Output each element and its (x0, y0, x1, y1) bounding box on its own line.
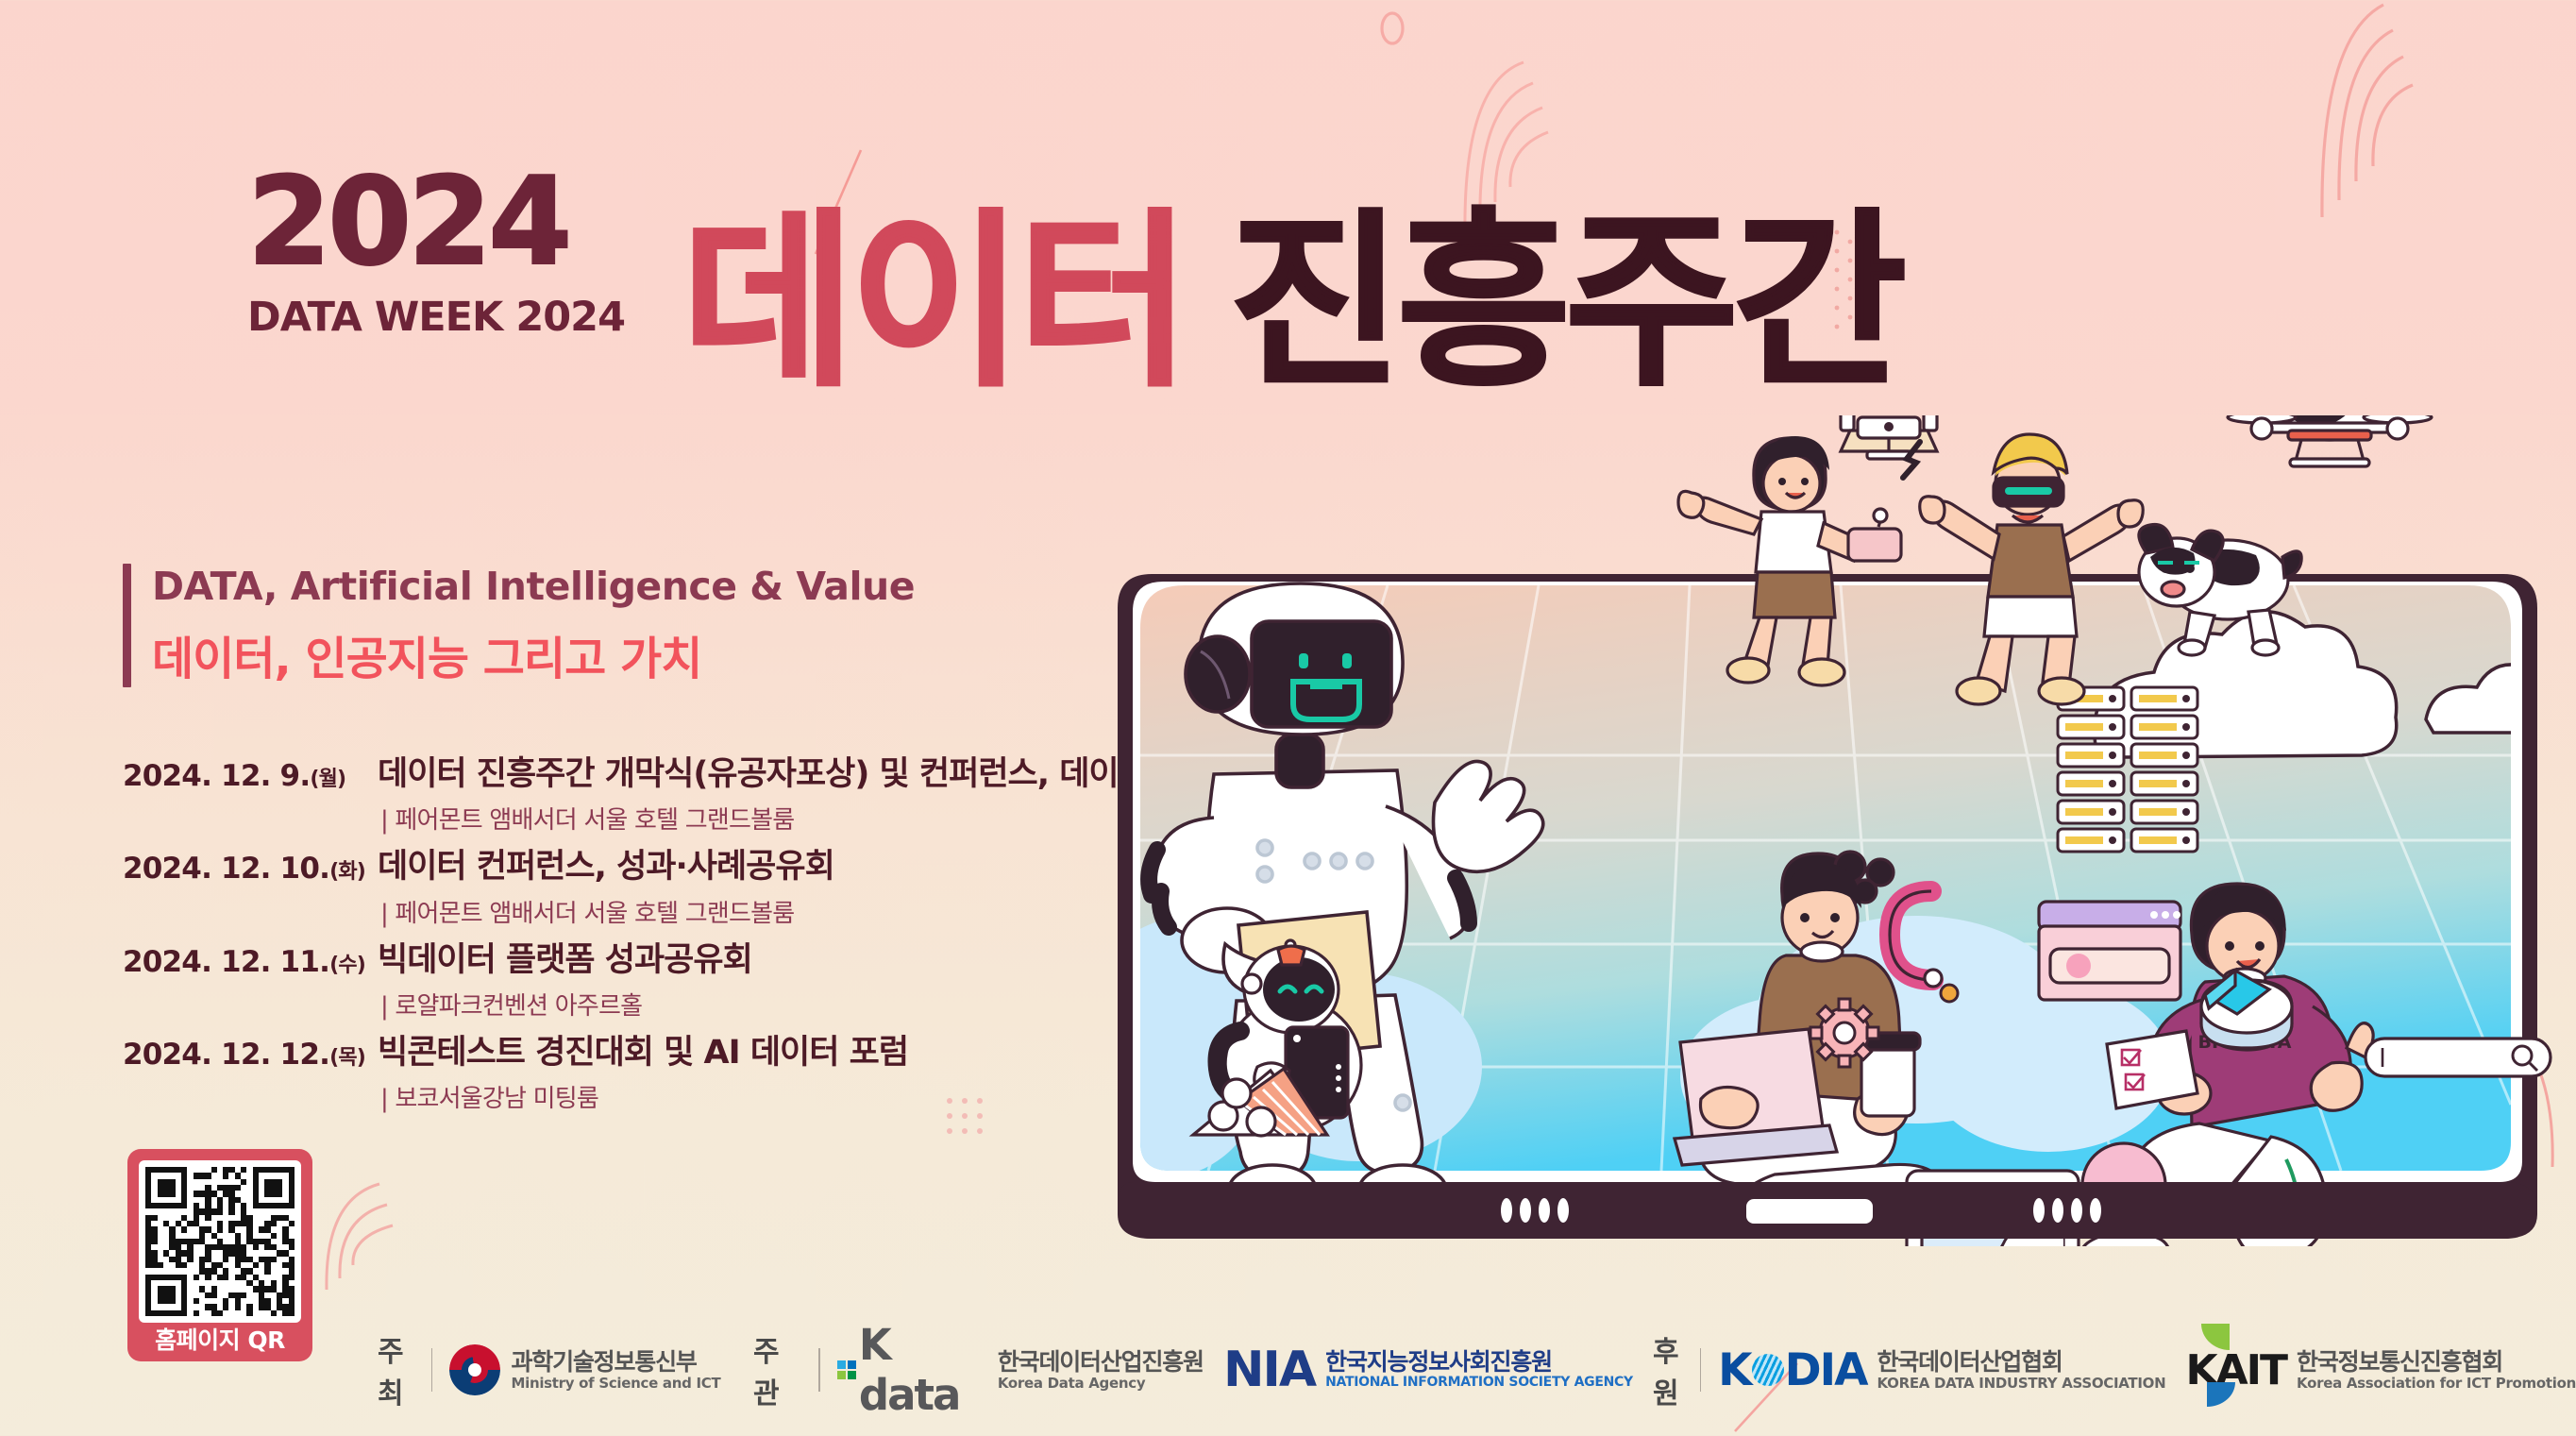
subtitle-english: DATA, Artificial Intelligence & Value (152, 564, 915, 609)
kdata-name-en: Korea Data Agency (998, 1376, 1204, 1392)
kdata-wordmark: K data (859, 1320, 987, 1420)
search-bar (2366, 1039, 2551, 1076)
schedule-date-text: 2024. 12. 10. (123, 852, 329, 886)
home-button (1746, 1199, 1873, 1224)
kait-text: KAIT (2186, 1346, 2287, 1394)
flying-robot-drone (2228, 415, 2432, 466)
title-korean-red: 데이터 (682, 193, 1186, 413)
decor-arc-qr (321, 1178, 406, 1292)
kait-wordmark: KAIT (2186, 1346, 2287, 1394)
poster-header: 2024 DATA WEEK 2024 데이터진흥주간 (247, 165, 2324, 411)
schedule-day-text: (목) (329, 1046, 365, 1070)
kait-blue-swoosh-icon (2207, 1382, 2235, 1407)
schedule-date: 2024. 12. 9.(월) (123, 755, 378, 793)
subtitle-accent-bar (123, 564, 131, 687)
tablet-bottom-bar (1118, 1182, 2537, 1239)
qr-code-image[interactable] (139, 1160, 301, 1323)
organizer-2-group: NIA 한국지능정보사회진흥원 NATIONAL INFORMATION SOC… (1223, 1342, 1633, 1398)
delivery-drone-icon (1827, 415, 1950, 459)
schedule-date: 2024. 12. 12.(목) (123, 1034, 378, 1072)
schedule-date: 2024. 12. 10.(화) (123, 848, 378, 886)
subtitle-block: DATA, Artificial Intelligence & Value 데이… (123, 564, 915, 687)
footer-logos: 주최 과학기술정보통신부 Ministry of Science and ICT… (378, 1329, 2576, 1411)
schedule-date-text: 2024. 12. 9. (123, 759, 310, 793)
nia-name-en: NATIONAL INFORMATION SOCIETY AGENCY (1325, 1376, 1633, 1391)
subtitle-korean: 데이터, 인공지능 그리고 가치 (152, 621, 915, 687)
kdata-mark-icon: K data (837, 1320, 987, 1420)
nia-name-kr: 한국지능정보사회진흥원 (1325, 1349, 1633, 1376)
divider (431, 1348, 432, 1392)
schedule-date-text: 2024. 12. 11. (123, 945, 329, 979)
logo-kait: KAIT 한국정보통신진흥협회 Korea Association for IC… (2186, 1346, 2576, 1394)
globe-icon (1752, 1354, 1784, 1386)
host-name-en: Ministry of Science and ICT (511, 1376, 720, 1392)
homepage-qr-block[interactable]: 홈페이지 QR (127, 1149, 312, 1361)
decor-circle-topmid (1373, 8, 1411, 49)
organizer-group: 주관 K data 한국데이터산업진흥원 Korea Data Agency (753, 1320, 1204, 1420)
kdata-name-kr: 한국데이터산업진흥원 (998, 1349, 1204, 1376)
kait-name-kr: 한국정보통신진흥협회 (2297, 1349, 2576, 1376)
pink-window (2039, 902, 2180, 1000)
taegeuk-icon (449, 1344, 500, 1395)
logo-kodia: KDIA 한국데이터산업협회 KOREA DATA INDUSTRY ASSOC… (1718, 1344, 2165, 1396)
schedule-day-text: (화) (329, 860, 365, 884)
header-left-block: 2024 DATA WEEK 2024 (247, 165, 653, 341)
kodia-name-kr: 한국데이터산업협회 (1877, 1349, 2165, 1376)
gear-icon (1810, 999, 1878, 1067)
organizer-role-label: 주관 (753, 1328, 801, 1411)
title-korean-dark: 진흥주간 (1229, 193, 1901, 413)
logo-ministry-of-science-ict: 과학기술정보통신부 Ministry of Science and ICT (449, 1344, 720, 1395)
illustration-scene: BIG DATA (1095, 415, 2576, 1246)
data-week-text: DATA WEEK 2024 (247, 294, 653, 341)
nia-wordmark: NIA (1223, 1342, 1315, 1398)
sponsor-2-group: KAIT 한국정보통신진흥협회 Korea Association for IC… (2186, 1346, 2576, 1394)
page-title: 데이터진흥주간 (682, 148, 1901, 422)
host-role-label: 주최 (378, 1328, 414, 1411)
kodia-name-en: KOREA DATA INDUSTRY ASSOCIATION (1877, 1376, 2165, 1392)
host-group: 주최 과학기술정보통신부 Ministry of Science and ICT (378, 1328, 720, 1411)
logo-nia: NIA 한국지능정보사회진흥원 NATIONAL INFORMATION SOC… (1223, 1342, 1633, 1398)
sponsor-group: 후원 KDIA 한국데이터산업협회 KOREA DATA INDUSTRY AS… (1653, 1328, 2165, 1411)
schedule-date: 2024. 12. 11.(수) (123, 941, 378, 979)
year-text: 2024 (247, 165, 653, 280)
logo-kdata: K data 한국데이터산업진흥원 Korea Data Agency (837, 1320, 1204, 1420)
schedule-date-text: 2024. 12. 12. (123, 1038, 329, 1072)
divider (818, 1348, 820, 1392)
schedule-day-text: (월) (310, 768, 345, 791)
divider (1700, 1348, 1701, 1392)
schedule-day-text: (수) (329, 954, 365, 977)
qr-label: 홈페이지 QR (139, 1323, 301, 1356)
sponsor-role-label: 후원 (1653, 1328, 1683, 1411)
host-name-kr: 과학기술정보통신부 (511, 1349, 720, 1376)
kait-name-en: Korea Association for ICT Promotion (2297, 1376, 2576, 1392)
orange-dot (1941, 985, 1958, 1002)
kodia-wordmark: KDIA (1718, 1344, 1866, 1396)
